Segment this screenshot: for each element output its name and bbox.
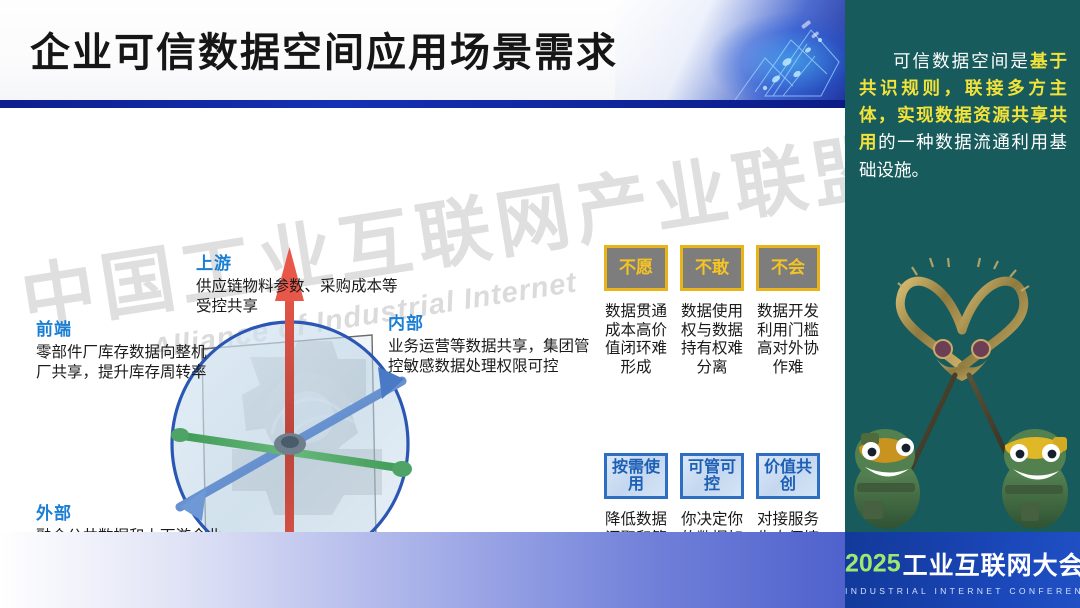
problem-box-row: 不愿 不敢 不会 (604, 245, 829, 291)
callout-external-title: 外部 (36, 499, 231, 524)
header-divider (0, 100, 845, 108)
callout-front-title: 前端 (36, 315, 216, 340)
conference-logo: 2025工业互联网大会 INDUSTRIAL INTERNET CONFEREN… (845, 532, 1080, 608)
mascot-right-icon (1002, 429, 1068, 529)
callout-upstream: 上游 供应链物料参数、采购成本等受控共享 (196, 249, 406, 318)
solution-box-on-demand[interactable]: 按需使用 (604, 453, 668, 499)
circuit-decoration-icon (615, 0, 845, 100)
callout-internal: 内部 业务运营等数据共享，集团管控敏感数据处理权限可控 (388, 309, 598, 378)
bottom-gradient-band (0, 532, 845, 608)
callout-internal-body: 业务运营等数据共享，集团管控敏感数据处理权限可控 (388, 337, 598, 378)
problem-detail-unable: 数据开发利用门槛高对外协作难 (756, 303, 820, 377)
problem-detail-row: 数据贯通成本高价值闭环难形成 数据使用权与数据持有权难分离 数据开发利用门槛高对… (604, 303, 829, 377)
logo-name-cn: 工业互联网大会 (903, 552, 1080, 580)
problem-boxes-group: 不愿 不敢 不会 数据贯通成本高价值闭环难形成 数据使用权与数据持有权难分离 数… (604, 245, 829, 377)
solution-box-co-creation[interactable]: 价值共创 (756, 453, 820, 499)
definition-part1: 可信数据空间是 (893, 51, 1030, 71)
problem-detail-afraid: 数据使用权与数据持有权难分离 (680, 303, 744, 377)
logo-main-line: 2025工业互联网大会 (845, 546, 1080, 582)
problem-detail-unwilling: 数据贯通成本高价值闭环难形成 (604, 303, 668, 377)
callout-upstream-title: 上游 (196, 249, 406, 274)
callout-front-body: 零部件厂库存数据向整机厂共享，提升库存周转率 (36, 343, 216, 384)
solution-box-controllable[interactable]: 可管可控 (680, 453, 744, 499)
right-side-panel: 可信数据空间是基于共识规则，联接多方主体，实现数据资源共享共用的一种数据流通利用… (845, 0, 1080, 608)
mascot-illustration (845, 215, 1080, 540)
definition-paragraph: 可信数据空间是基于共识规则，联接多方主体，实现数据资源共享共用的一种数据流通利用… (859, 48, 1067, 184)
logo-year: 2025 (845, 550, 901, 578)
slide-root: 企业可信数据空间应用场景需求 中国工业互联网产业联盟 Alliance of I… (0, 0, 1080, 608)
header-tech-graphic (615, 0, 845, 100)
definition-part2: 的一种数据流通利用基础设施。 (859, 132, 1067, 179)
problem-box-unwilling[interactable]: 不愿 (604, 245, 668, 291)
page-title: 企业可信数据空间应用场景需求 (30, 20, 618, 78)
slide-header: 企业可信数据空间应用场景需求 (0, 0, 845, 108)
problem-box-unable[interactable]: 不会 (756, 245, 820, 291)
slide-body: 中国工业互联网产业联盟 Alliance of Industrial Inter… (0, 109, 845, 608)
problem-box-afraid[interactable]: 不敢 (680, 245, 744, 291)
mascot-left-icon (854, 429, 920, 529)
callout-internal-title: 内部 (388, 309, 598, 334)
callout-front: 前端 零部件厂库存数据向整机厂共享，提升库存周转率 (36, 315, 216, 384)
callout-upstream-body: 供应链物料参数、采购成本等受控共享 (196, 277, 406, 318)
logo-name-en: INDUSTRIAL INTERNET CONFERENCE (845, 586, 1080, 596)
solution-box-row: 按需使用 可管可控 价值共创 (604, 453, 829, 499)
two-mascots-with-heart-icon (845, 215, 1080, 540)
heart-ornament-icon (900, 281, 1024, 367)
